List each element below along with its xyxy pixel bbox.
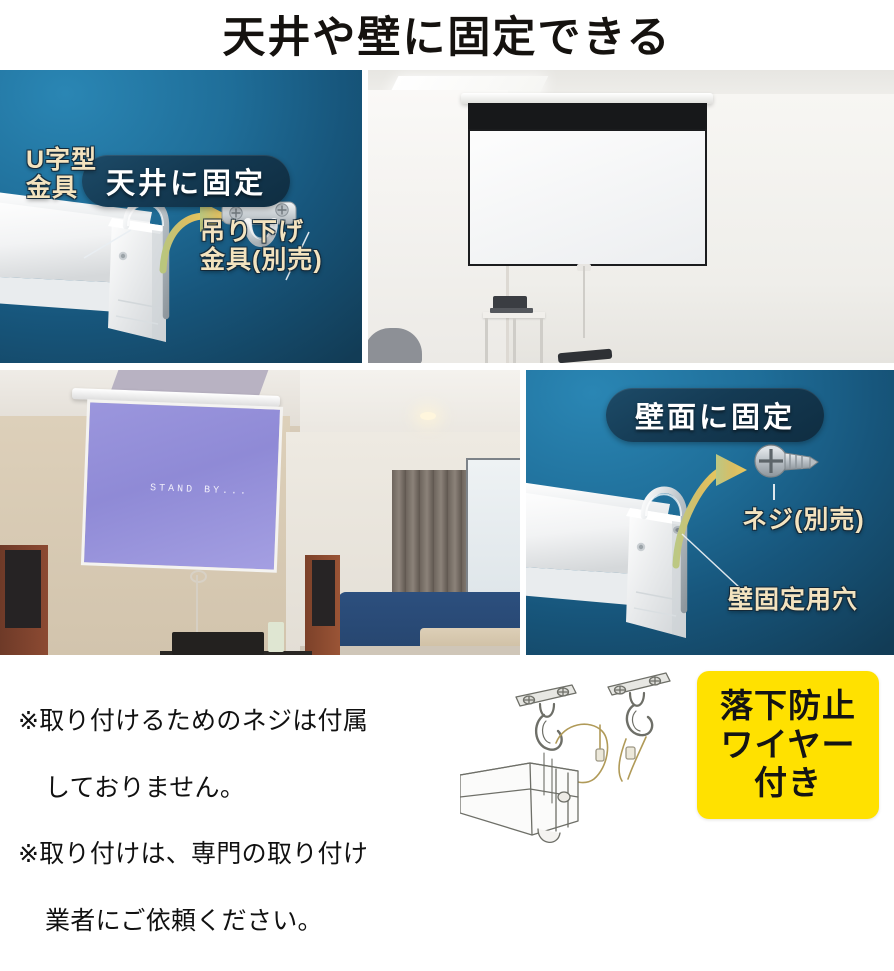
- page-title: 天井や壁に固定できる: [0, 0, 894, 68]
- badge-ceiling-mount: 天井に固定: [82, 155, 290, 207]
- projection-screen: [468, 129, 707, 266]
- note-line-1: ※取り付けるためのネジは付属: [18, 705, 448, 738]
- badge-line-1: 落下防止: [720, 687, 856, 726]
- panel-row-bottom: STAND BY...: [0, 370, 894, 655]
- badge-line-3: 付き: [754, 764, 822, 803]
- photo-office-room: [368, 70, 894, 363]
- panel-ceiling-mount: 天井に固定 U字型 金具 吊り下げ 金具(別売): [0, 70, 362, 363]
- safety-wire-diagram: [460, 663, 692, 854]
- note-line-4: 業者にご依頼ください。: [18, 905, 448, 938]
- infographic-page: 天井や壁に固定できる: [0, 0, 894, 854]
- anti-fall-wire-badge: 落下防止 ワイヤー 付き: [697, 671, 879, 819]
- label-hanging-bracket: 吊り下げ 金具(別売): [200, 218, 323, 274]
- ceiling-product-illustration: [0, 70, 362, 363]
- panel-row-top: 天井に固定 U字型 金具 吊り下げ 金具(別売): [0, 70, 894, 363]
- photo-bedroom: STAND BY...: [0, 370, 520, 655]
- badge-wall-mount: 壁面に固定: [606, 388, 824, 442]
- label-wall-hole: 壁固定用穴: [728, 586, 858, 614]
- panel-wall-mount: 壁面に固定 ネジ(別売) 壁固定用穴: [526, 370, 894, 655]
- phillips-screw-icon: [755, 445, 818, 477]
- screen-black-border: [468, 103, 707, 131]
- label-screw: ネジ(別売): [742, 506, 865, 534]
- note-line-3: ※取り付けは、専門の取り付け: [18, 838, 448, 871]
- installation-notes: ※取り付けるためのネジは付属 しておりません。 ※取り付けは、専門の取り付け 業…: [18, 672, 448, 971]
- note-line-2: しておりません。: [18, 772, 448, 805]
- badge-line-2: ワイヤー: [720, 726, 855, 765]
- label-u-bracket: U字型 金具: [26, 146, 97, 202]
